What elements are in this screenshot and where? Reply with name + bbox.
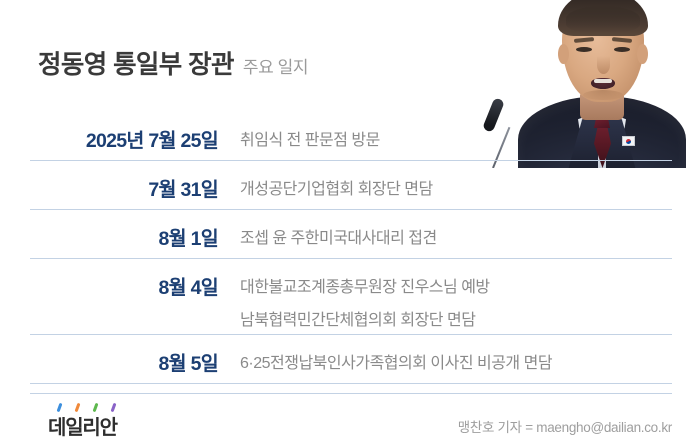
eye-right [614, 47, 630, 52]
timeline-row: 7월 31일 개성공단기업협회 회장단 면담 [30, 161, 672, 210]
timeline-row: 8월 5일 6·25전쟁납북인사가족협의회 이사진 비공개 면담 [30, 335, 672, 384]
reporter-byline: 맹찬호 기자 = maengho@dailian.co.kr [458, 407, 672, 436]
timeline-description: 개성공단기업협회 회장단 면담 [218, 161, 672, 199]
timeline-description: 취임식 전 판문점 방문 [218, 112, 672, 150]
page-header: 정동영 통일부 장관 주요 일지 [38, 44, 308, 81]
timeline-description-line: 6·25전쟁납북인사가족협의회 이사진 비공개 면담 [240, 349, 672, 373]
eye-left [576, 47, 592, 52]
eyebrow-right [612, 37, 632, 43]
page-subtitle: 주요 일지 [243, 53, 308, 78]
hair [558, 0, 648, 36]
timeline-description-line: 대한불교조계종총무원장 진우스님 예방 [240, 273, 672, 297]
ear-right [637, 44, 648, 64]
timeline-row: 8월 1일 조셉 윤 주한미국대사대리 접견 [30, 210, 672, 259]
timeline-date: 8월 5일 [30, 335, 218, 376]
ear-left [558, 44, 569, 64]
timeline-description-line: 남북협력민간단체협의회 회장단 면담 [240, 306, 672, 330]
timeline-description-line: 취임식 전 판문점 방문 [240, 126, 672, 150]
timeline-list: 2025년 7월 25일 취임식 전 판문점 방문 7월 31일 개성공단기업협… [30, 112, 672, 384]
logo-accent-marks [52, 403, 124, 413]
nose [597, 56, 610, 74]
logo-text: 데일리안 [48, 417, 117, 439]
logo-accent-4 [111, 403, 117, 412]
timeline-date: 7월 31일 [30, 161, 218, 202]
dailian-logo: 데일리안 [48, 402, 117, 440]
timeline-date: 8월 4일 [30, 259, 218, 300]
infographic-root: 정동영 통일부 장관 주요 일지 2025년 7월 25일 취임식 전 판문점 … [0, 0, 700, 447]
timeline-date: 8월 1일 [30, 210, 218, 251]
logo-accent-1 [57, 403, 63, 412]
logo-accent-2 [75, 403, 81, 412]
timeline-row: 2025년 7월 25일 취임식 전 판문점 방문 [30, 112, 672, 161]
timeline-description-line: 조셉 윤 주한미국대사대리 접견 [240, 224, 672, 248]
timeline-description-line: 개성공단기업협회 회장단 면담 [240, 175, 672, 199]
eyebrow-left [574, 37, 594, 43]
logo-accent-3 [93, 403, 99, 412]
timeline-description: 조셉 윤 주한미국대사대리 접견 [218, 210, 672, 248]
mouth [591, 78, 615, 89]
timeline-description: 6·25전쟁납북인사가족협의회 이사진 비공개 면담 [218, 335, 672, 373]
timeline-description: 대한불교조계종총무원장 진우스님 예방 남북협력민간단체협의회 회장단 면담 [218, 259, 672, 330]
timeline-date: 2025년 7월 25일 [30, 112, 218, 153]
timeline-row: 8월 4일 대한불교조계종총무원장 진우스님 예방 남북협력민간단체협의회 회장… [30, 259, 672, 335]
page-title: 정동영 통일부 장관 [38, 44, 234, 81]
chin-shadow [583, 90, 623, 100]
page-footer: 데일리안 맹찬호 기자 = maengho@dailian.co.kr [30, 393, 672, 447]
